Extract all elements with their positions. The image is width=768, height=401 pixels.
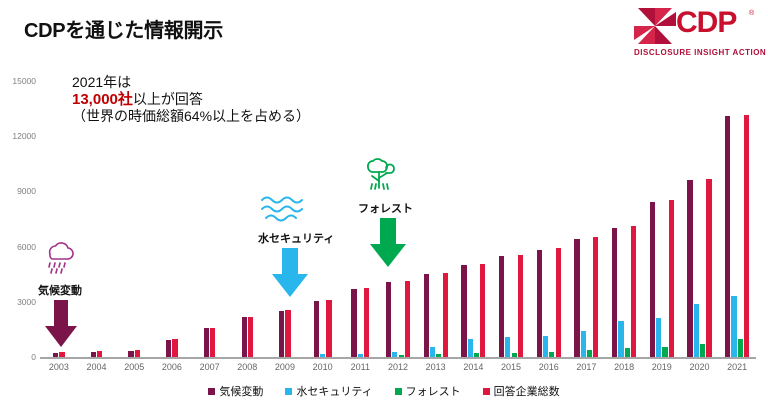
bar-total-2008 <box>248 317 253 357</box>
bar-total-2011 <box>364 288 369 357</box>
legend-swatch-icon <box>208 388 215 395</box>
bar-climate-2015 <box>499 256 504 357</box>
callout-annotation: 2021年は 13,000社以上が回答 （世界の時価総額64%以上を占める） <box>72 74 310 125</box>
bar-climate-2011 <box>351 289 356 357</box>
y-axis-tick-label: 12000 <box>0 131 36 141</box>
bar-water-2018 <box>618 321 623 357</box>
bar-climate-2007 <box>204 328 209 357</box>
bar-climate-2013 <box>424 274 429 357</box>
legend-swatch-icon <box>483 388 490 395</box>
bar-total-2016 <box>556 248 561 357</box>
x-axis-tick-label: 2004 <box>87 362 107 372</box>
bar-climate-2019 <box>650 202 655 357</box>
callout-line-2: 13,000社以上が回答 <box>72 91 310 108</box>
bar-climate-2008 <box>242 317 247 357</box>
water-waves-icon <box>258 192 306 226</box>
cdp-tagline: DISCLOSURE INSIGHT ACTION <box>634 48 758 57</box>
legend-swatch-icon <box>285 388 292 395</box>
bar-water-2016 <box>543 336 548 357</box>
x-axis-tick-label: 2010 <box>313 362 333 372</box>
bar-climate-2018 <box>612 228 617 357</box>
bar-total-2020 <box>706 179 711 357</box>
bar-total-2018 <box>631 226 636 357</box>
bar-total-2003 <box>59 352 64 357</box>
bar-forest-2017 <box>587 350 592 357</box>
legend-item-0[interactable]: 気候変動 <box>208 383 263 399</box>
bar-water-2013 <box>430 347 435 357</box>
legend-label: フォレスト <box>406 383 461 399</box>
bar-water-2014 <box>468 339 473 357</box>
x-axis-tick-label: 2006 <box>162 362 182 372</box>
legend-item-1[interactable]: 水セキュリティ <box>285 383 372 399</box>
bar-total-2006 <box>172 339 177 357</box>
x-axis-tick-label: 2007 <box>200 362 220 372</box>
down-arrow-water-icon <box>270 248 310 298</box>
bar-water-2020 <box>694 304 699 357</box>
bar-climate-2006 <box>166 340 171 357</box>
axis-baseline <box>40 357 756 359</box>
bar-total-2017 <box>593 237 598 357</box>
bar-forest-2020 <box>700 344 705 357</box>
bar-climate-2012 <box>386 282 391 357</box>
x-axis-tick-label: 2012 <box>388 362 408 372</box>
bar-forest-2014 <box>474 353 479 357</box>
x-axis-tick-label: 2008 <box>237 362 257 372</box>
legend-item-3[interactable]: 回答企業総数 <box>483 383 560 399</box>
bar-total-2019 <box>669 200 674 357</box>
bar-water-2011 <box>358 354 363 357</box>
bar-total-2015 <box>518 255 523 357</box>
x-axis-tick-label: 2014 <box>463 362 483 372</box>
y-axis-tick-label: 9000 <box>0 186 36 196</box>
y-axis-tick-label: 3000 <box>0 297 36 307</box>
bar-forest-2021 <box>738 339 743 357</box>
y-axis-tick-label: 15000 <box>0 76 36 86</box>
bar-climate-2003 <box>53 353 58 357</box>
x-axis-tick-label: 2009 <box>275 362 295 372</box>
bar-climate-2004 <box>91 352 96 357</box>
callout-line-1: 2021年は <box>72 74 310 91</box>
bar-climate-2016 <box>537 250 542 357</box>
bar-climate-2009 <box>279 311 284 357</box>
chart-legend: 気候変動水セキュリティフォレスト回答企業総数 <box>0 382 768 400</box>
callout-line-2-rest: 以上が回答 <box>133 91 203 107</box>
bar-total-2009 <box>285 310 290 357</box>
y-axis-tick-label: 0 <box>0 352 36 362</box>
x-axis-tick-label: 2013 <box>426 362 446 372</box>
bar-climate-2014 <box>461 265 466 357</box>
x-axis-tick-label: 2018 <box>614 362 634 372</box>
bar-climate-2010 <box>314 301 319 357</box>
registered-mark-icon: ® <box>749 10 754 17</box>
bar-water-2015 <box>505 337 510 357</box>
x-axis-tick-label: 2005 <box>124 362 144 372</box>
bar-climate-2020 <box>687 180 692 357</box>
bar-total-2014 <box>480 264 485 357</box>
legend-label: 気候変動 <box>219 383 263 399</box>
bar-climate-2021 <box>725 116 730 357</box>
y-axis-tick-label: 6000 <box>0 242 36 252</box>
legend-label: 水セキュリティ <box>296 383 372 399</box>
bar-forest-2016 <box>549 352 554 357</box>
x-axis-tick-label: 2016 <box>539 362 559 372</box>
x-axis-tick-label: 2020 <box>689 362 709 372</box>
annotation-water-label: 水セキュリティ <box>258 230 334 246</box>
bar-forest-2018 <box>625 348 630 357</box>
cdp-pinwheel-icon <box>632 6 678 46</box>
rain-cloud-icon <box>38 238 78 280</box>
annotation-climate: 気候変動 <box>38 238 78 285</box>
cdp-logo: CDP ® DISCLOSURE INSIGHT ACTION <box>632 4 758 60</box>
bar-forest-2013 <box>436 354 441 357</box>
bar-total-2004 <box>97 351 102 357</box>
legend-swatch-icon <box>395 388 402 395</box>
bar-total-2005 <box>135 350 140 357</box>
bar-total-2013 <box>443 273 448 357</box>
bar-total-2021 <box>744 115 749 357</box>
tree-icon <box>358 156 404 198</box>
bar-water-2021 <box>731 296 736 357</box>
bar-water-2012 <box>392 352 397 357</box>
callout-highlight: 13,000社 <box>72 91 133 108</box>
x-axis-tick-label: 2021 <box>727 362 747 372</box>
header-bar: CDPを通じた情報開示 CDP ® DISCLOSURE INSIGHT ACT… <box>0 0 768 62</box>
bar-forest-2012 <box>399 355 404 357</box>
annotation-forest: フォレスト <box>358 156 404 203</box>
x-axis-tick-label: 2019 <box>652 362 672 372</box>
bar-water-2017 <box>581 331 586 357</box>
bar-total-2012 <box>405 281 410 357</box>
x-axis-tick-label: 2015 <box>501 362 521 372</box>
bar-total-2007 <box>210 328 215 357</box>
down-arrow-climate-icon <box>44 300 78 348</box>
down-arrow-forest-icon <box>368 218 408 268</box>
cdp-wordmark: CDP <box>676 6 736 40</box>
x-axis-tick-label: 2011 <box>351 362 370 372</box>
bar-climate-2017 <box>574 239 579 357</box>
bar-water-2010 <box>320 354 325 357</box>
bar-forest-2019 <box>662 347 667 357</box>
annotation-forest-label: フォレスト <box>358 200 413 216</box>
legend-label: 回答企業総数 <box>494 383 560 399</box>
bar-forest-2015 <box>512 353 517 357</box>
bar-total-2010 <box>326 300 331 357</box>
bar-climate-2005 <box>128 351 133 357</box>
callout-line-3: （世界の時価総額64%以上を占める） <box>72 108 310 125</box>
legend-item-2[interactable]: フォレスト <box>395 383 461 399</box>
annotation-water: 水セキュリティ <box>258 192 306 231</box>
page-title: CDPを通じた情報開示 <box>24 14 223 43</box>
annotation-climate-label: 気候変動 <box>38 282 82 298</box>
bar-water-2019 <box>656 318 661 357</box>
x-axis-tick-label: 2003 <box>49 362 69 372</box>
x-axis-tick-label: 2017 <box>576 362 596 372</box>
